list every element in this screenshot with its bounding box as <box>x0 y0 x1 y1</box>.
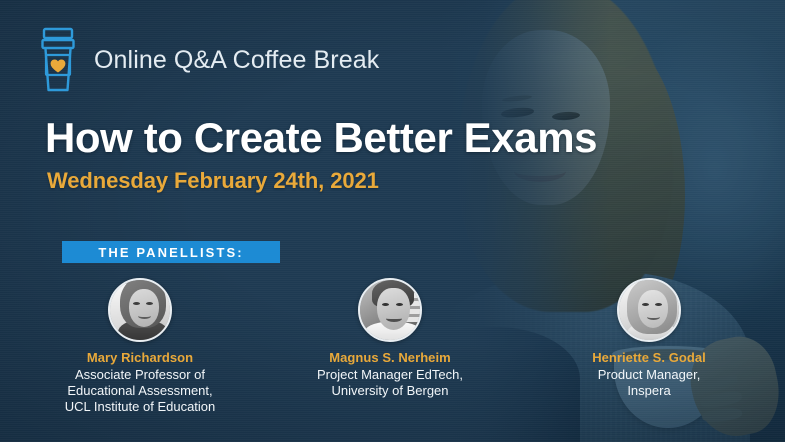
panellist-role-line: Associate Professor of <box>15 367 265 383</box>
brand-header: Online Q&A Coffee Break <box>38 27 379 93</box>
webinar-promo-banner: Online Q&A Coffee Break How to Create Be… <box>0 0 785 442</box>
panellist-name: Mary Richardson <box>15 350 265 365</box>
brand-title: Online Q&A Coffee Break <box>94 46 379 75</box>
panellist-role-line: UCL Institute of Education <box>15 399 265 415</box>
panellist-role-line: Educational Assessment, <box>15 383 265 399</box>
panellist-role-line: Product Manager, <box>524 367 774 383</box>
panellist-role-line: Project Manager EdTech, <box>265 367 515 383</box>
panellist-role: Associate Professor of Educational Asses… <box>15 367 265 415</box>
avatar-image <box>110 280 170 340</box>
panellist-name: Henriette S. Godal <box>524 350 774 365</box>
panellist-card: Henriette S. Godal Product Manager, Insp… <box>524 278 774 415</box>
panellists-label: THE PANELLISTS: <box>98 245 243 260</box>
avatar-image <box>360 280 420 340</box>
panellist-role-line: University of Bergen <box>265 383 515 399</box>
panellist-card: Mary Richardson Associate Professor of E… <box>15 278 265 415</box>
panellists-list: Mary Richardson Associate Professor of E… <box>0 278 785 415</box>
panellist-card: Magnus S. Nerheim Project Manager EdTech… <box>265 278 515 415</box>
avatar <box>358 278 422 342</box>
banner-content: Online Q&A Coffee Break How to Create Be… <box>0 0 785 442</box>
panellist-role: Project Manager EdTech, University of Be… <box>265 367 515 399</box>
avatar <box>108 278 172 342</box>
panellist-role-line: Inspera <box>524 383 774 399</box>
page-title: How to Create Better Exams <box>45 114 597 162</box>
avatar-image <box>619 280 679 340</box>
coffee-cup-heart-icon <box>38 27 78 93</box>
event-date: Wednesday February 24th, 2021 <box>47 168 379 194</box>
avatar <box>617 278 681 342</box>
panellist-role: Product Manager, Inspera <box>524 367 774 399</box>
panellists-label-bar: THE PANELLISTS: <box>62 241 280 263</box>
panellist-name: Magnus S. Nerheim <box>265 350 515 365</box>
